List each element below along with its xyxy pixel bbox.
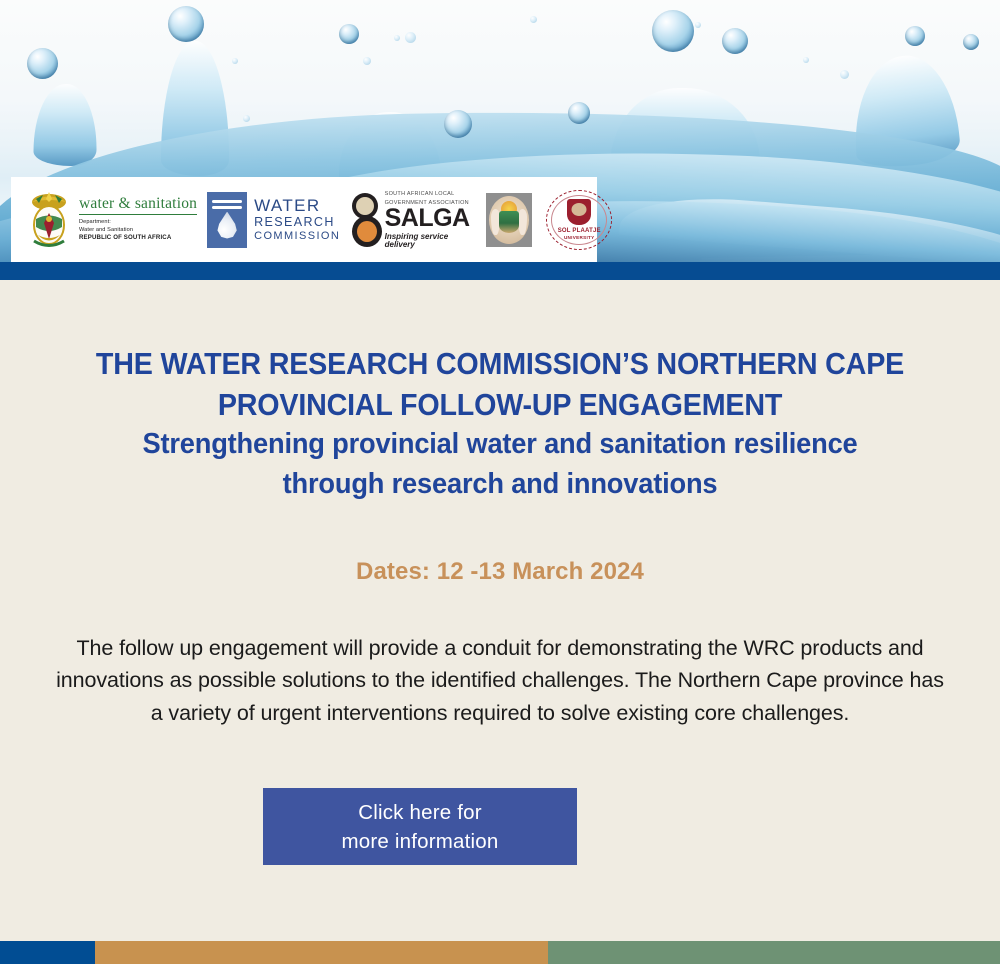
- dws-title: water & sanitation: [79, 196, 197, 212]
- water-droplet-icon: [840, 70, 849, 79]
- spu-name: SOL PLAATJE: [558, 228, 601, 234]
- water-droplet-icon: [963, 34, 979, 50]
- spu-sub: UNIVERSITY: [546, 235, 612, 241]
- footer-segment-blue: [0, 941, 95, 964]
- cta-container: Click here for more information: [0, 788, 1000, 865]
- logo-sol-plaatje-university: SOL PLAATJE UNIVERSITY: [532, 181, 612, 258]
- salga-tagline: Inspiring service delivery: [385, 233, 473, 249]
- logo-water-research-commission: WATER RESEARCH COMMISSION: [197, 181, 340, 258]
- dws-line1: Department:: [79, 218, 197, 226]
- cta-line-1: Click here for: [358, 798, 482, 827]
- water-droplet-icon: [652, 10, 694, 52]
- footer-segment-green: [548, 941, 1000, 964]
- subtitle-line-2: through research and innovations: [30, 465, 970, 505]
- water-droplet-icon: [444, 110, 472, 138]
- water-droplet-icon: [530, 16, 537, 23]
- water-droplet-icon: [695, 22, 701, 28]
- dws-line3: REPUBLIC OF SOUTH AFRICA: [79, 234, 171, 241]
- water-droplet-icon: [905, 26, 925, 46]
- salga-small-line1: SOUTH AFRICAN LOCAL: [385, 190, 473, 198]
- water-droplet-icon: [232, 58, 238, 64]
- blue-divider-band: [0, 262, 1000, 280]
- water-droplet-icon: [568, 102, 590, 124]
- wrc-line3: COMMISSION: [254, 230, 340, 242]
- salga-figure-eight-mark-icon: [352, 193, 379, 247]
- water-droplet-icon: [803, 57, 809, 63]
- water-droplet-icon: [27, 48, 58, 79]
- water-droplet-icon: [243, 115, 250, 122]
- logo-northern-cape-province: [472, 181, 532, 258]
- south-africa-coat-of-arms-icon: [25, 189, 73, 251]
- water-droplet-icon: [339, 24, 359, 44]
- northern-cape-coat-of-arms-icon: [486, 193, 532, 247]
- event-poster: water & sanitation Department: Water and…: [0, 0, 1000, 964]
- title-line-1: THE WATER RESEARCH COMMISSION’S NORTHERN…: [30, 344, 970, 385]
- sol-plaatje-university-crest-icon: SOL PLAATJE UNIVERSITY: [546, 190, 612, 250]
- water-droplet-icon: [722, 28, 748, 54]
- water-droplet-icon: [363, 57, 371, 65]
- wrc-water-droplet-mark-icon: [207, 192, 247, 248]
- more-information-button[interactable]: Click here for more information: [263, 788, 577, 865]
- event-description: The follow up engagement will provide a …: [55, 632, 945, 731]
- subtitle-line-1: Strengthening provincial water and sanit…: [30, 425, 970, 465]
- event-dates: Dates: 12 -13 March 2024: [0, 558, 1000, 586]
- water-droplet-icon: [394, 35, 400, 41]
- partner-logos-strip: water & sanitation Department: Water and…: [11, 177, 597, 262]
- dws-line2: Water and Sanitation: [79, 226, 197, 234]
- water-droplet-icon: [168, 6, 204, 42]
- logo-salga: SOUTH AFRICAN LOCAL GOVERNMENT ASSOCIATI…: [340, 181, 472, 258]
- page-title: THE WATER RESEARCH COMMISSION’S NORTHERN…: [0, 280, 1000, 505]
- water-droplet-icon: [405, 32, 416, 43]
- poster-body: THE WATER RESEARCH COMMISSION’S NORTHERN…: [0, 280, 1000, 935]
- salga-wordmark: SALGA: [385, 207, 473, 231]
- wrc-line2: RESEARCH: [254, 216, 340, 230]
- cta-line-2: more information: [341, 827, 498, 856]
- dws-divider: [79, 214, 197, 215]
- wrc-line1: WATER: [254, 197, 340, 216]
- footer-color-bar: [0, 941, 1000, 964]
- footer-segment-tan: [95, 941, 548, 964]
- logo-department-water-sanitation: water & sanitation Department: Water and…: [17, 181, 197, 258]
- title-line-2: PROVINCIAL FOLLOW-UP ENGAGEMENT: [30, 385, 970, 426]
